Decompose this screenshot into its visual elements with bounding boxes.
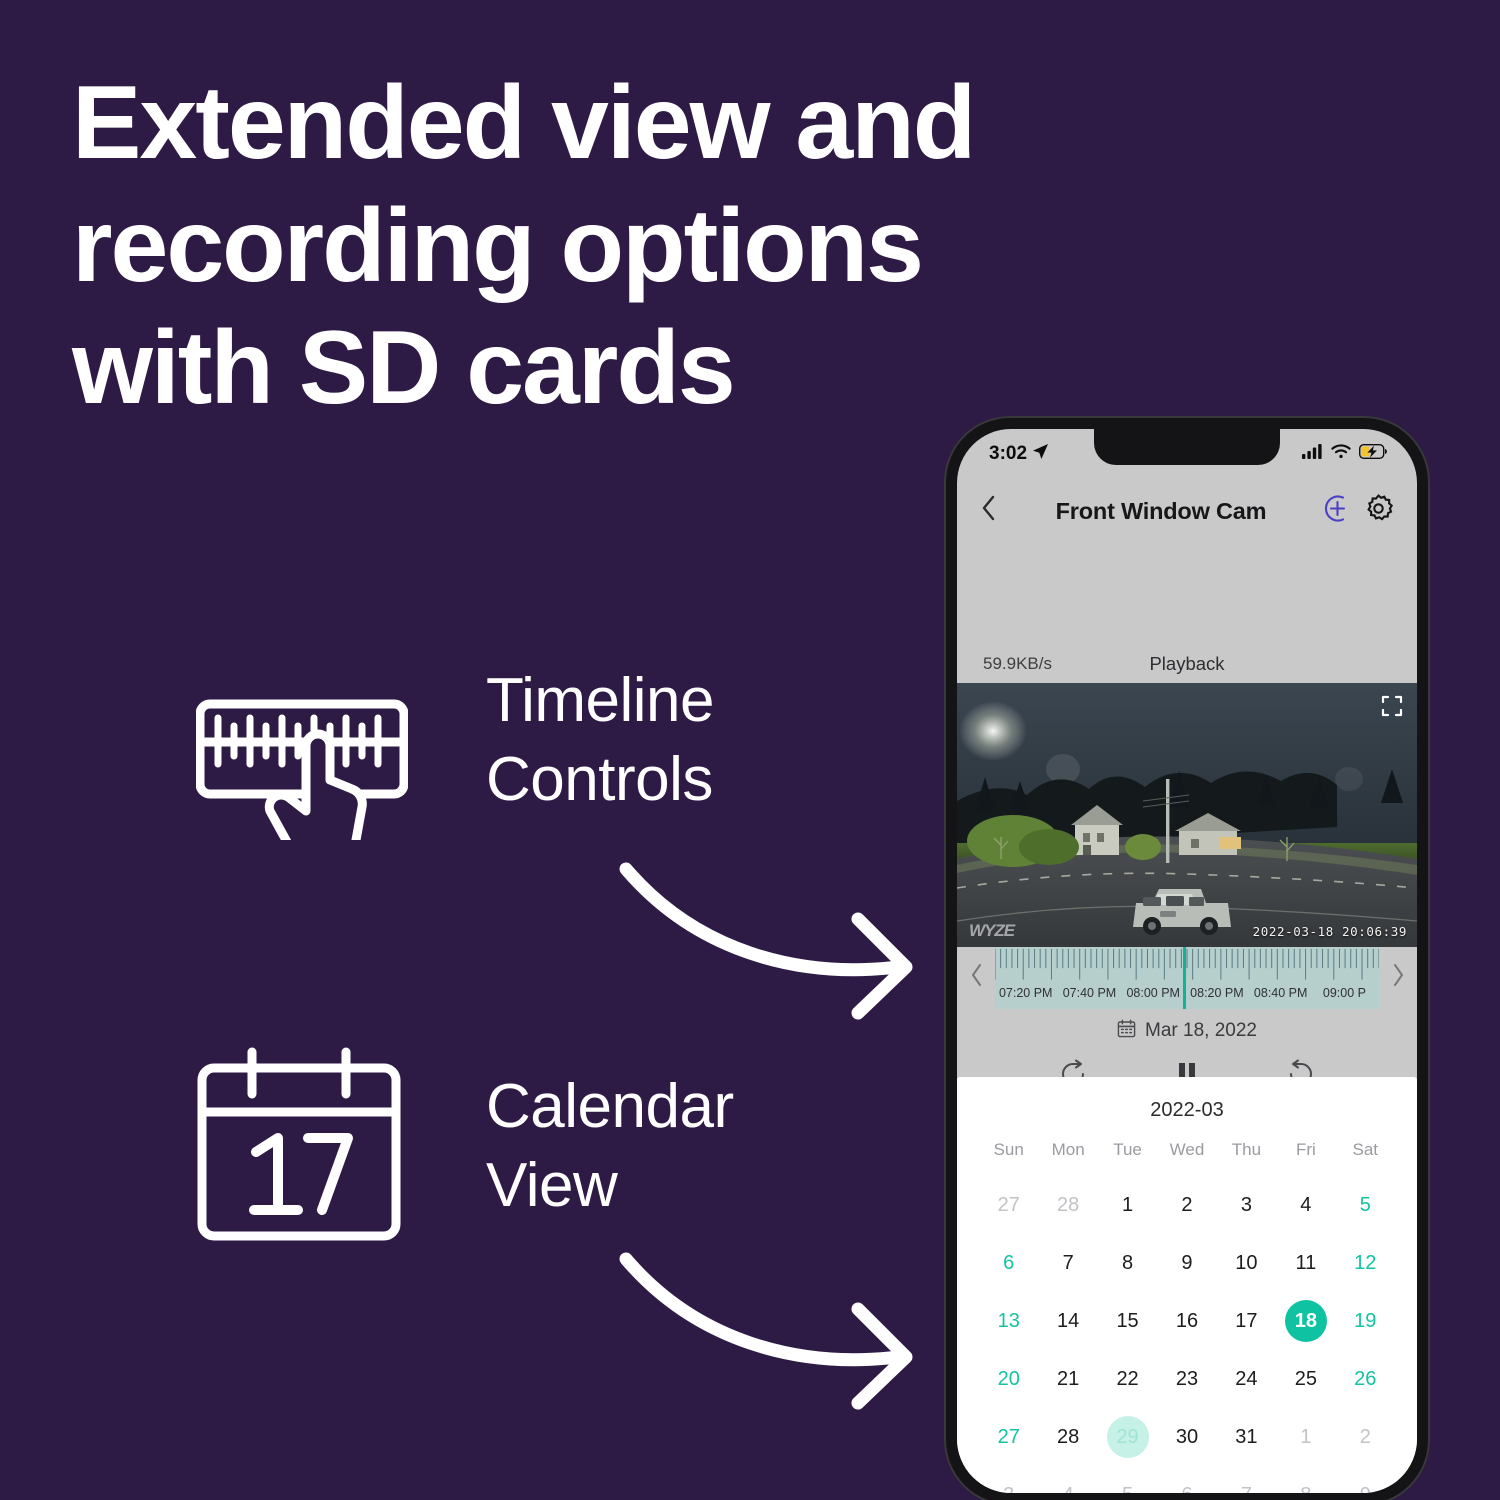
camera-video-feed[interactable]: WYZE 2022-03-18 20:06:39	[957, 683, 1417, 947]
status-time: 3:02	[989, 443, 1027, 465]
calendar-day-cell[interactable]: 2	[1336, 1408, 1395, 1466]
calendar-day-number: 6	[1166, 1474, 1208, 1493]
calendar-day-number: 14	[1047, 1300, 1089, 1342]
phone-notch	[1094, 429, 1280, 465]
calendar-day-number: 16	[1166, 1300, 1208, 1342]
calendar-weekday-label: Sat	[1336, 1140, 1395, 1176]
calendar-day-cell[interactable]: 7	[1038, 1234, 1097, 1292]
calendar-day-number: 26	[1344, 1358, 1386, 1400]
calendar-day-number: 1	[1285, 1416, 1327, 1458]
calendar-month-title: 2022-03	[979, 1091, 1395, 1140]
calendar-day-number: 30	[1166, 1416, 1208, 1458]
calendar-weekday-label: Wed	[1157, 1140, 1216, 1176]
calendar-day-cell[interactable]: 6	[1157, 1466, 1216, 1493]
timeline-track[interactable]: 07:20 PM07:40 PM08:00 PM08:20 PM08:40 PM…	[995, 947, 1379, 1009]
feature-calendar-view: Calendar View	[196, 1046, 734, 1246]
calendar-day-cell[interactable]: 19	[1336, 1292, 1395, 1350]
calendar-day-cell[interactable]: 8	[1276, 1466, 1335, 1493]
calendar-day-cell[interactable]: 4	[1038, 1466, 1097, 1493]
wyze-watermark: WYZE	[969, 921, 1014, 941]
calendar-day-cell[interactable]: 1	[1098, 1176, 1157, 1234]
calendar-day-number: 5	[1344, 1184, 1386, 1226]
calendar-day-cell[interactable]: 10	[1217, 1234, 1276, 1292]
calendar-day-number: 12	[1344, 1242, 1386, 1284]
calendar-day-cell[interactable]: 1	[1276, 1408, 1335, 1466]
camera-name-title: Front Window Cam	[1021, 498, 1301, 525]
wifi-icon	[1331, 443, 1351, 465]
calendar-day-cell[interactable]: 15	[1098, 1292, 1157, 1350]
timeline-tick-label: 07:40 PM	[1063, 986, 1117, 1000]
calendar-day-cell[interactable]: 25	[1276, 1350, 1335, 1408]
feature-label: Calendar View	[486, 1067, 734, 1226]
calendar-day-cell[interactable]: 13	[979, 1292, 1038, 1350]
gear-icon[interactable]	[1364, 494, 1393, 528]
timeline-tick-labels: 07:20 PM07:40 PM08:00 PM08:20 PM08:40 PM…	[995, 986, 1379, 1002]
timeline-playhead[interactable]	[1183, 947, 1186, 1009]
bitrate-label: 59.9KB/s	[983, 654, 1052, 674]
timeline-tick-label: 07:20 PM	[999, 986, 1053, 1000]
calendar-day-number: 27	[988, 1184, 1030, 1226]
calendar-day-number: 15	[1107, 1300, 1149, 1342]
app-nav-bar: Front Window Cam	[957, 483, 1417, 539]
calendar-day-cell[interactable]: 6	[979, 1234, 1038, 1292]
calendar-day-number: 9	[1344, 1474, 1386, 1493]
back-button[interactable]	[981, 495, 1021, 527]
calendar-day-cell[interactable]: 18	[1276, 1292, 1335, 1350]
calendar-day-cell[interactable]: 12	[1336, 1234, 1395, 1292]
calendar-day-number: 2	[1344, 1416, 1386, 1458]
calendar-day-number: 21	[1047, 1358, 1089, 1400]
calendar-day-cell[interactable]: 27	[979, 1408, 1038, 1466]
headline-line-3: with SD cards	[72, 307, 1222, 430]
calendar-day-number: 2	[1166, 1184, 1208, 1226]
playback-info-row: 59.9KB/s Playback	[957, 645, 1417, 683]
calendar-day-number: 6	[988, 1242, 1030, 1284]
calendar-day-number: 27	[988, 1416, 1030, 1458]
timeline-scrubber[interactable]: 07:20 PM07:40 PM08:00 PM08:20 PM08:40 PM…	[957, 947, 1417, 1009]
calendar-day-cell[interactable]: 4	[1276, 1176, 1335, 1234]
calendar-day-cell[interactable]: 16	[1157, 1292, 1216, 1350]
calendar-day-cell[interactable]: 3	[979, 1466, 1038, 1493]
timeline-prev-button[interactable]	[957, 963, 995, 994]
curved-arrow-to-timeline	[610, 855, 930, 1030]
battery-charging-icon	[1359, 443, 1387, 465]
calendar-day-number: 3	[1225, 1184, 1267, 1226]
signal-bars-icon	[1302, 443, 1323, 465]
calendar-day-number: 7	[1225, 1474, 1267, 1493]
calendar-day-number: 8	[1107, 1242, 1149, 1284]
calendar-day-cell[interactable]: 31	[1217, 1408, 1276, 1466]
calendar-day-number: 28	[1047, 1416, 1089, 1458]
fullscreen-expand-icon[interactable]	[1381, 695, 1403, 717]
calendar-day-cell[interactable]: 7	[1217, 1466, 1276, 1493]
calendar-day-number: 18	[1285, 1300, 1327, 1342]
calendar-weekday-label: Mon	[1038, 1140, 1097, 1176]
calendar-day-cell[interactable]: 27	[979, 1176, 1038, 1234]
calendar-day-cell[interactable]: 29	[1098, 1408, 1157, 1466]
calendar-day-cell[interactable]: 21	[1038, 1350, 1097, 1408]
circle-plus-icon[interactable]	[1323, 494, 1352, 528]
calendar-day-number: 19	[1344, 1300, 1386, 1342]
calendar-day-cell[interactable]: 30	[1157, 1408, 1216, 1466]
calendar-day-number: 5	[1107, 1474, 1149, 1493]
selected-date-label: Mar 18, 2022	[1145, 1020, 1257, 1042]
timeline-tick-label: 08:20 PM	[1190, 986, 1244, 1000]
location-arrow-icon	[1032, 443, 1049, 466]
timeline-tick-label: 08:40 PM	[1254, 986, 1308, 1000]
headline-line-1: Extended view and	[72, 62, 1222, 185]
timeline-tick-label: 09:00 P	[1323, 986, 1366, 1000]
calendar-day-number: 29	[1107, 1416, 1149, 1458]
calendar-day-cell[interactable]: 17	[1217, 1292, 1276, 1350]
timeline-next-button[interactable]	[1379, 963, 1417, 994]
calendar-day-number: 23	[1166, 1358, 1208, 1400]
calendar-17-icon	[196, 1046, 408, 1246]
calendar-day-cell[interactable]: 11	[1276, 1234, 1335, 1292]
feature-label: Timeline Controls	[486, 661, 714, 820]
calendar-day-number: 10	[1225, 1242, 1267, 1284]
calendar-day-number: 20	[988, 1358, 1030, 1400]
page-title: Extended view and recording options with…	[72, 62, 1222, 430]
calendar-weekday-label: Thu	[1217, 1140, 1276, 1176]
calendar-day-number: 4	[1285, 1184, 1327, 1226]
calendar-day-number: 22	[1107, 1358, 1149, 1400]
video-timestamp-overlay: 2022-03-18 20:06:39	[1253, 924, 1407, 939]
calendar-day-cell[interactable]: 3	[1217, 1176, 1276, 1234]
calendar-day-number: 7	[1047, 1242, 1089, 1284]
calendar-weekday-header: SunMonTueWedThuFriSat	[979, 1140, 1395, 1176]
calendar-day-number: 9	[1166, 1242, 1208, 1284]
calendar-day-number: 3	[988, 1474, 1030, 1493]
calendar-day-cell[interactable]: 14	[1038, 1292, 1097, 1350]
calendar-day-number: 13	[988, 1300, 1030, 1342]
calendar-day-cell[interactable]: 23	[1157, 1350, 1216, 1408]
calendar-day-cell[interactable]: 9	[1157, 1234, 1216, 1292]
calendar-day-number: 1	[1107, 1184, 1149, 1226]
calendar-day-number: 4	[1047, 1474, 1089, 1493]
calendar-weekday-label: Tue	[1098, 1140, 1157, 1176]
calendar-day-number: 11	[1285, 1242, 1327, 1284]
calendar-day-cell[interactable]: 22	[1098, 1350, 1157, 1408]
curved-arrow-to-calendar	[610, 1245, 930, 1420]
phone-mockup: 3:02	[944, 416, 1430, 1500]
calendar-day-cell[interactable]: 28	[1038, 1408, 1097, 1466]
timeline-ruler-tap-icon	[196, 640, 408, 840]
calendar-sheet: 2022-03 SunMonTueWedThuFriSat 2728123456…	[957, 1077, 1417, 1493]
calendar-day-number: 24	[1225, 1358, 1267, 1400]
calendar-day-cell[interactable]: 2	[1157, 1176, 1216, 1234]
calendar-day-cell[interactable]: 26	[1336, 1350, 1395, 1408]
phone-screen: 3:02	[957, 429, 1417, 1493]
calendar-day-cell[interactable]: 8	[1098, 1234, 1157, 1292]
calendar-icon	[1117, 1019, 1136, 1044]
calendar-day-cell[interactable]: 28	[1038, 1176, 1097, 1234]
calendar-date-grid[interactable]: 2728123456789101112131415161718192021222…	[979, 1176, 1395, 1493]
calendar-day-number: 28	[1047, 1184, 1089, 1226]
feature-timeline-controls: Timeline Controls	[196, 640, 714, 840]
calendar-day-cell[interactable]: 24	[1217, 1350, 1276, 1408]
calendar-weekday-label: Sun	[979, 1140, 1038, 1176]
calendar-day-cell[interactable]: 9	[1336, 1466, 1395, 1493]
headline-line-2: recording options	[72, 185, 1222, 308]
calendar-day-number: 17	[1225, 1300, 1267, 1342]
calendar-day-number: 25	[1285, 1358, 1327, 1400]
calendar-day-cell[interactable]: 5	[1098, 1466, 1157, 1493]
calendar-day-number: 8	[1285, 1474, 1327, 1493]
timeline-tick-label: 08:00 PM	[1126, 986, 1180, 1000]
calendar-day-cell[interactable]: 5	[1336, 1176, 1395, 1234]
calendar-day-number: 31	[1225, 1416, 1267, 1458]
selected-date-row[interactable]: Mar 18, 2022	[957, 1011, 1417, 1051]
calendar-day-cell[interactable]: 20	[979, 1350, 1038, 1408]
calendar-weekday-label: Fri	[1276, 1140, 1335, 1176]
